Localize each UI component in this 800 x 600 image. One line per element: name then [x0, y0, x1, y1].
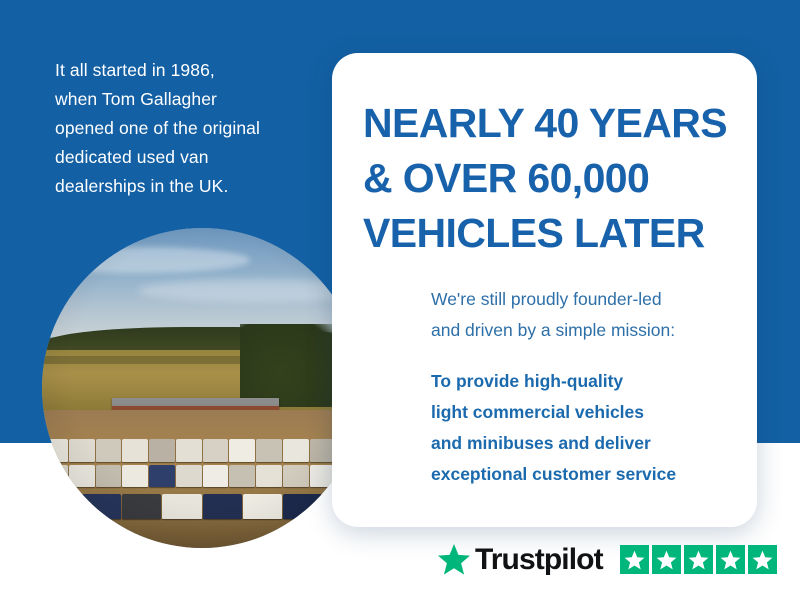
mission-statement: To provide high-quality light commercial… — [431, 366, 731, 490]
star-icon — [624, 550, 645, 570]
promo-banner: It all started in 1986, when Tom Gallagh… — [0, 0, 800, 600]
rating-star-3 — [684, 545, 713, 574]
trustpilot-logo[interactable]: Trustpilot — [437, 543, 603, 576]
rating-star-2 — [652, 545, 681, 574]
star-icon — [688, 550, 709, 570]
rating-star-5 — [748, 545, 777, 574]
star-icon — [656, 550, 677, 570]
trustpilot-star-icon — [437, 543, 471, 576]
photo-vignette — [42, 228, 362, 548]
trustpilot-rating[interactable]: Trustpilot — [437, 543, 777, 576]
star-icon — [720, 550, 741, 570]
star-icon — [752, 550, 773, 570]
trustpilot-star-rating — [620, 545, 777, 574]
message-card: NEARLY 40 YEARS & OVER 60,000 VEHICLES L… — [332, 53, 757, 527]
dealership-photo-circle — [42, 228, 362, 548]
rating-star-4 — [716, 545, 745, 574]
trustpilot-wordmark: Trustpilot — [475, 545, 603, 575]
intro-paragraph: It all started in 1986, when Tom Gallagh… — [55, 56, 315, 201]
rating-star-1 — [620, 545, 649, 574]
headline: NEARLY 40 YEARS & OVER 60,000 VEHICLES L… — [363, 96, 743, 261]
lede-paragraph: We're still proudly founder-led and driv… — [431, 284, 731, 346]
